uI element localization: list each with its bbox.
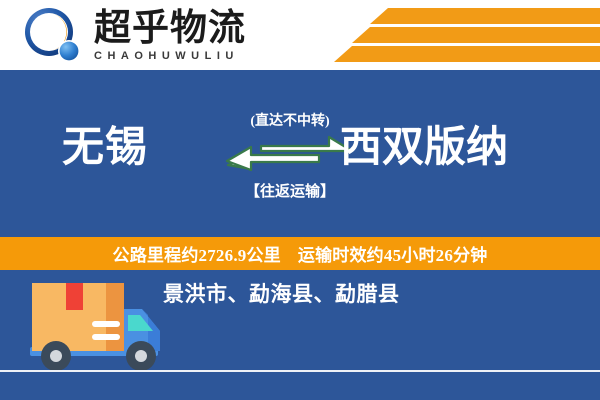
distance-text: 公路里程约2726.9公里: [113, 241, 281, 266]
brand-name-en: CHAOHUWULIU: [94, 50, 246, 62]
double-headed-arrow-icon: [225, 134, 355, 174]
brand-logo: 超乎物流 CHAOHUWULIU: [24, 6, 246, 66]
coverage-section: 景洪市、勐海县、勐腊县: [0, 270, 600, 400]
route-info-bar: 公路里程约2726.9公里 运输时效约45小时26分钟: [0, 237, 600, 270]
logistics-route-banner: 超乎物流 CHAOHUWULIU 无锡 (直达不中转) 【往返运输】 西双版纳: [0, 0, 600, 400]
roundtrip-service-tag: 【往返运输】: [225, 180, 355, 201]
route-info-inner: 公路里程约2726.9公里 运输时效约45小时26分钟: [113, 241, 488, 266]
duration-text: 运输时效约45小时26分钟: [298, 241, 488, 266]
brand-name-cn: 超乎物流: [94, 10, 246, 48]
circle-crescent-logo-icon: [24, 6, 86, 66]
origin-city: 无锡: [62, 127, 148, 169]
bottom-divider: [0, 370, 600, 372]
delivery-truck-icon: [22, 275, 168, 380]
coverage-areas-text: 景洪市、勐海县、勐腊县: [163, 278, 400, 308]
direct-service-tag: (直达不中转): [225, 110, 355, 130]
route-arrow-cluster: (直达不中转) 【往返运输】: [225, 110, 355, 220]
route-section: 无锡 (直达不中转) 【往返运输】 西双版纳: [0, 70, 600, 237]
banner-header: 超乎物流 CHAOHUWULIU: [0, 0, 600, 70]
brand-logo-text: 超乎物流 CHAOHUWULIU: [94, 10, 246, 62]
three-diagonal-stripes-icon: [310, 0, 600, 70]
destination-city: 西双版纳: [340, 127, 508, 169]
